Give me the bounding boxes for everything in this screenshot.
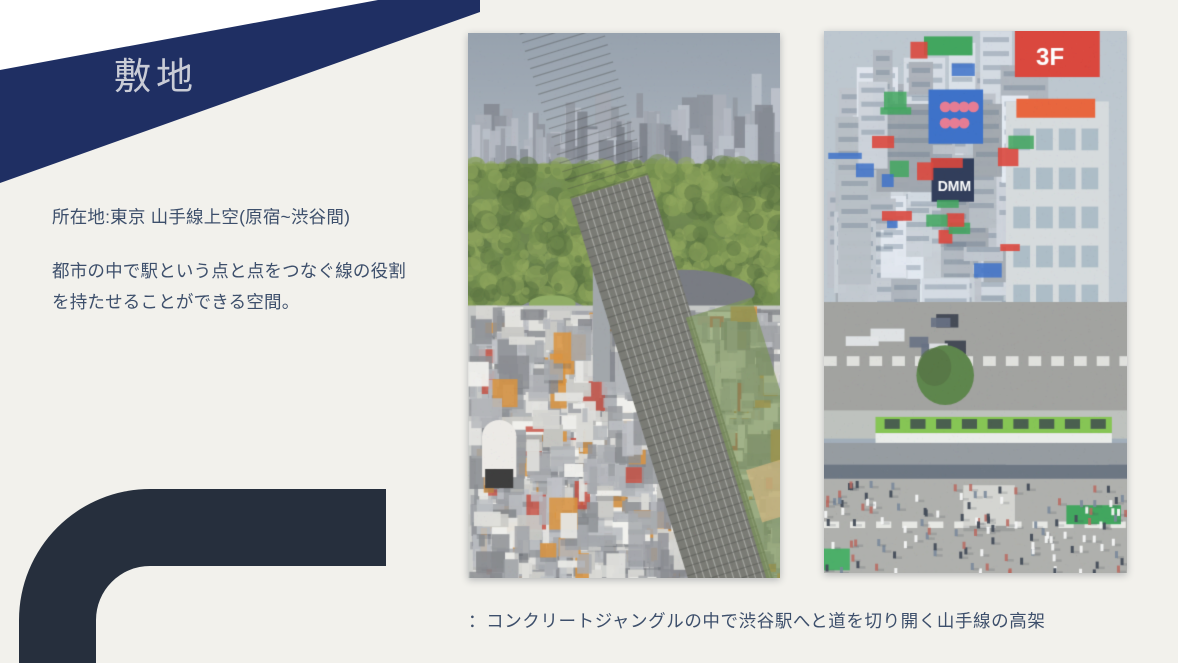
rounded-elbow-band	[0, 470, 400, 663]
photo-aerial-canvas	[468, 33, 780, 578]
location-line: 所在地:東京 山手線上空(原宿~渋谷間)	[52, 204, 422, 230]
page-title: 敷地	[114, 57, 198, 100]
photo-shibuya-street-yamanote-viaduct	[824, 31, 1127, 573]
photo-shibuya-canvas	[824, 31, 1127, 573]
body-copy: 所在地:東京 山手線上空(原宿~渋谷間) 都市の中で駅という点と点をつなぐ線の役…	[52, 204, 422, 319]
slide: 敷地 所在地:東京 山手線上空(原宿~渋谷間) 都市の中で駅という点と点をつなぐ…	[0, 0, 1178, 663]
photo-aerial-yoyogi-harajuku	[468, 33, 780, 578]
description-paragraph: 都市の中で駅という点と点をつなぐ線の役割を持たせることができる空間。	[52, 256, 422, 318]
photo-caption: ：コンクリートジャングルの中で渋谷駅へと道を切り開く山手線の高架	[468, 608, 1045, 633]
